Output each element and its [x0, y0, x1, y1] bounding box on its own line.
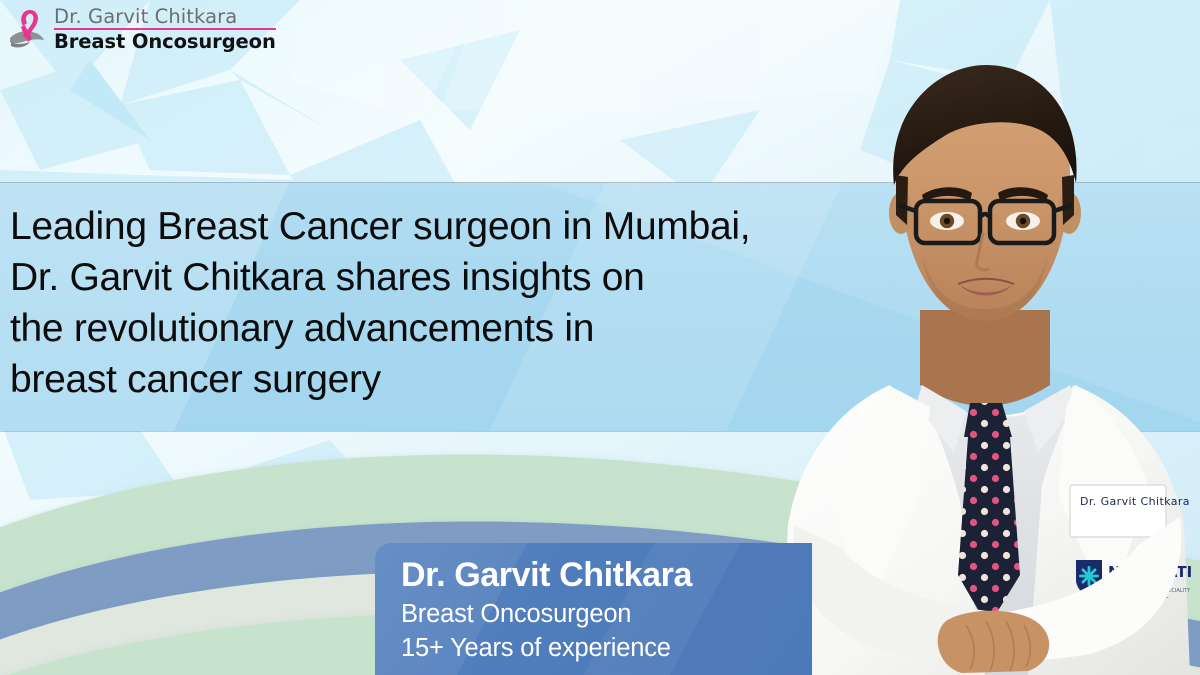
- coat-pocket: [1070, 485, 1166, 537]
- necktie-knot: [964, 403, 1012, 437]
- pupil-right: [1020, 218, 1026, 224]
- card-doctor-role: Breast Oncosurgeon: [401, 597, 812, 631]
- pink-ribbon-in-hand-icon: [8, 6, 50, 52]
- brand-logo[interactable]: Dr. Garvit Chitkara Breast Oncosurgeon: [8, 6, 276, 52]
- coat-embroidery-text: Dr. Garvit Chitkara: [1080, 495, 1190, 508]
- card-doctor-experience: 15+ Years of experience: [401, 631, 812, 665]
- doctor-portrait: Dr. Garvit Chitkara NANAVATI MAX SUPER S…: [770, 55, 1200, 675]
- pupil-left: [944, 218, 950, 224]
- promo-banner: Leading Breast Cancer surgeon in Mumbai,…: [0, 0, 1200, 675]
- doctor-name-card: Dr. Garvit Chitkara Breast Oncosurgeon 1…: [375, 543, 812, 675]
- brand-subtitle: Breast Oncosurgeon: [54, 30, 276, 52]
- brand-logo-text: Dr. Garvit Chitkara Breast Oncosurgeon: [54, 7, 276, 51]
- brand-name: Dr. Garvit Chitkara: [54, 7, 276, 30]
- neck: [920, 310, 1050, 406]
- card-doctor-name: Dr. Garvit Chitkara: [401, 553, 812, 597]
